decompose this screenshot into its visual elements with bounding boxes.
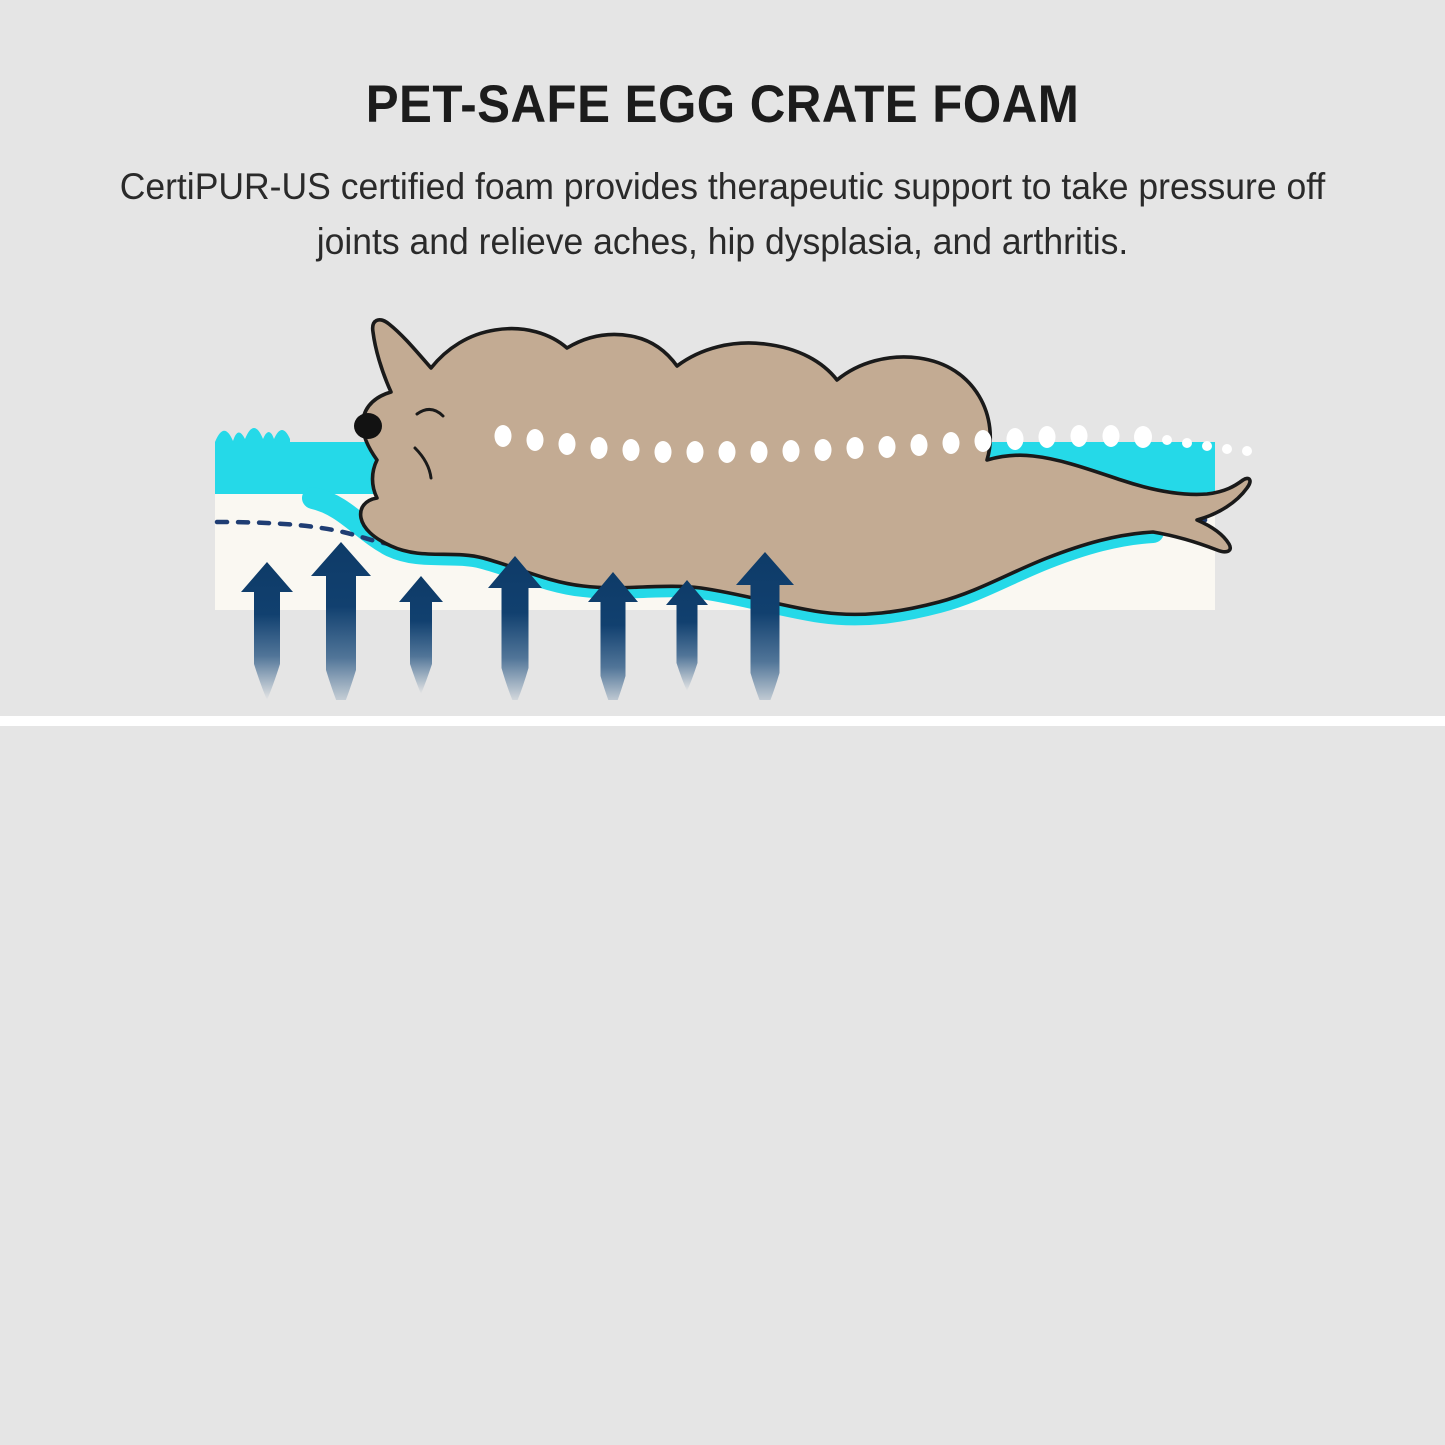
egg-crate-nubs [215,428,290,442]
dog-nose-top [354,413,382,439]
diagram-svg [195,300,1255,700]
top-subheadline: CertiPUR-US certified foam provides ther… [77,160,1368,270]
bottom-panel: INCREASED AIRFLOW [0,726,1445,1445]
top-panel: PET-SAFE EGG CRATE FOAM CertiPUR-US cert… [0,0,1445,716]
top-headline: PET-SAFE EGG CRATE FOAM [51,74,1395,135]
pressure-relief-diagram [195,300,1255,700]
section-divider [0,716,1445,726]
infographic-page: PET-SAFE EGG CRATE FOAM CertiPUR-US cert… [0,0,1445,1445]
